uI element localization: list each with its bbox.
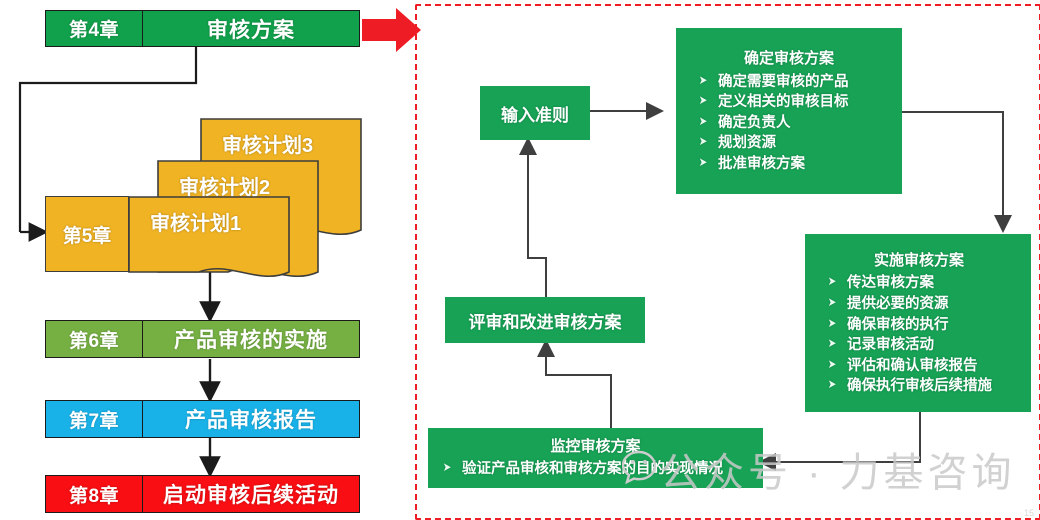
chapter-bar-6[interactable]: 第6章 产品审核的实施	[45, 320, 360, 358]
bullet-item: 确保执行审核后续措施	[827, 376, 1025, 397]
bullet-item: 提供必要的资源	[827, 294, 1025, 315]
chapter-8-title: 启动审核后续活动	[143, 476, 359, 512]
determine-audit-program-title: 确定审核方案	[684, 49, 894, 69]
red-right-arrow-icon	[362, 6, 422, 59]
chapter-bar-7[interactable]: 第7章 产品审核报告	[45, 400, 360, 438]
chapter-bar-8[interactable]: 第8章 启动审核后续活动	[45, 475, 360, 513]
implement-audit-program-title: 实施审核方案	[813, 251, 1025, 271]
page-number: 15	[1024, 508, 1034, 518]
audit-plan-3-label: 审核计划3	[222, 129, 313, 158]
chapter-4-title: 审核方案	[143, 11, 359, 46]
bullet-item: 评估和确认审核报告	[827, 356, 1025, 377]
chapter-5-number: 第5章	[63, 221, 112, 248]
chapter-bar-5[interactable]: 第5章	[45, 196, 129, 272]
implement-audit-program-bullets: 传达审核方案 提供必要的资源 确保审核的执行 记录审核活动 评估和确认审核报告 …	[813, 273, 1025, 396]
audit-plan-1-label: 审核计划1	[150, 207, 241, 236]
review-improve-audit-program-title: 评审和改进审核方案	[445, 308, 645, 333]
bullet-item: 确定需要审核的产品	[698, 72, 894, 93]
chapter-6-title: 产品审核的实施	[143, 321, 359, 357]
audit-plan-1-shape[interactable]: 审核计划1	[128, 196, 290, 288]
bullet-item: 传达审核方案	[827, 273, 1025, 294]
bullet-item: 记录审核活动	[827, 335, 1025, 356]
input-criteria-title: 输入准则	[480, 101, 590, 126]
chapter-4-number: 第4章	[46, 11, 143, 46]
chapter-7-title: 产品审核报告	[143, 401, 359, 437]
bullet-item: 批准审核方案	[698, 154, 894, 175]
watermark-text: 公众号 · 力基咨询	[660, 440, 1016, 498]
chapter-bar-4[interactable]: 第4章 审核方案	[45, 10, 360, 47]
chapter-8-number: 第8章	[46, 476, 143, 512]
process-box-input-criteria[interactable]: 输入准则	[480, 86, 590, 140]
process-box-determine-audit-program[interactable]: 确定审核方案 确定需要审核的产品 定义相关的审核目标 确定负责人 规划资源 批准…	[676, 28, 902, 194]
chapter-6-number: 第6章	[46, 321, 143, 357]
slide-canvas: 第4章 审核方案 审核计划3 审核计划2 审核计划1 第5章 第6章 产品审核的…	[0, 0, 1040, 520]
bullet-item: 规划资源	[698, 133, 894, 154]
determine-audit-program-bullets: 确定需要审核的产品 定义相关的审核目标 确定负责人 规划资源 批准审核方案	[684, 72, 894, 175]
bullet-item: 确定负责人	[698, 113, 894, 134]
process-box-review-improve-audit-program[interactable]: 评审和改进审核方案	[445, 297, 645, 343]
bullet-item: 定义相关的审核目标	[698, 92, 894, 113]
process-box-implement-audit-program[interactable]: 实施审核方案 传达审核方案 提供必要的资源 确保审核的执行 记录审核活动 评估和…	[805, 234, 1031, 412]
bullet-item: 确保审核的执行	[827, 315, 1025, 336]
chapter-7-number: 第7章	[46, 401, 143, 437]
